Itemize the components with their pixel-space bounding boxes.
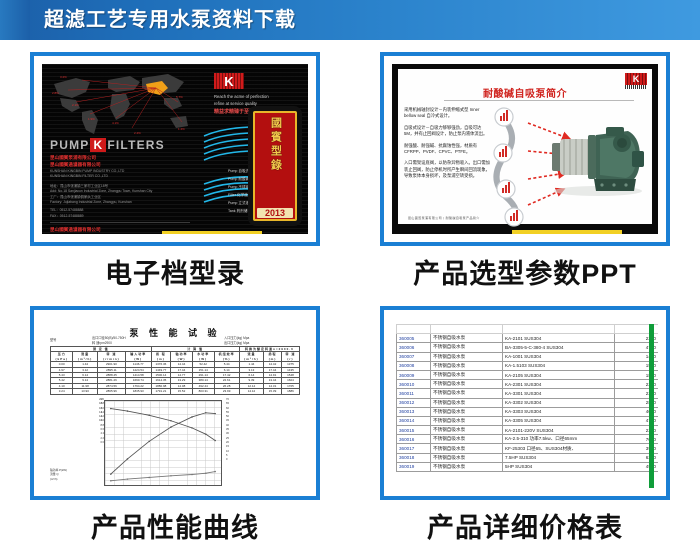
- chart-data-point: [127, 478, 129, 480]
- table-column-header: 扬 程 (m): [151, 352, 171, 362]
- chart-data-point: [170, 475, 172, 477]
- sheet-title: 泵 性 能 试 验: [42, 326, 308, 339]
- table-column-header: 流量 (m³/h): [73, 352, 97, 362]
- catalog-company-en-2: KUNSHAN KINGBIN FILTER CO.,LTD: [50, 174, 200, 179]
- cell-code: 360012: [397, 398, 431, 407]
- cell-model: KA-2101 SUS304: [503, 334, 615, 343]
- cell-name: 不锈钢自吸水泵: [431, 462, 503, 471]
- catalog-k-logo-letter: K: [224, 75, 233, 88]
- table-row[interactable]: 360008不锈钢自吸水泵KA-1.5103 SUS3041540: [397, 361, 659, 370]
- caption-price: 产品详细价格表: [427, 506, 623, 545]
- table-column-header: 压力 (kPa): [51, 352, 73, 362]
- cell-model: KA-3301 SUS304: [503, 389, 615, 398]
- cell-model: KA-2105 SUS304: [503, 370, 615, 379]
- table-cell: 15.52: [171, 389, 193, 394]
- sheet-meta-outlet: 出口压力(kg) Mpa: [224, 341, 249, 346]
- table-row[interactable]: 360019不锈钢自吸水泵5HP SUS3044900: [397, 462, 659, 471]
- chart-data-point: [148, 441, 150, 443]
- table-cell: 1791.21: [151, 389, 171, 394]
- catalog-factory-cn: 工厂：昆山市张浦镇俱家浜工业区: [50, 195, 200, 200]
- table-row[interactable]: 360005不锈钢自吸水泵KA-2101 SUS3042240: [397, 334, 659, 343]
- cell-code: 360017: [397, 444, 431, 453]
- cell-model: 5HP SUS304: [503, 462, 615, 471]
- ppt-bullet-4: 入口需架设底阀，以防杂异物吸入。出口需加装止回阀，防止停机时所产生瞬间回流现象，…: [404, 160, 490, 179]
- table-column-header: 扬程 (m): [264, 352, 282, 362]
- table-row[interactable]: 360011不锈钢自吸水泵KA-3301 SUS3042380: [397, 389, 659, 398]
- cell-code: 360010: [397, 380, 431, 389]
- cell-model: KA-2301 SUS304: [503, 380, 615, 389]
- table-row[interactable]: 360010不锈钢自吸水泵KA-2301 SUS3042240: [397, 380, 659, 389]
- chart-y-axis-right-ticks: 7065605550454035302520151050: [226, 398, 250, 462]
- cell-name: 不锈钢自吸水泵: [431, 389, 503, 398]
- cell-model: KA-2.5-310 功率7.5kw、口径65mm: [503, 435, 615, 444]
- table-row[interactable]: 360017不锈钢自吸水泵KF-25303 口径65、SUS304材质、3990: [397, 444, 659, 453]
- ppt-hotline-strip: [625, 85, 647, 89]
- chart-data-point: [127, 458, 129, 460]
- cell-model: KA-2101-220V SUS304: [503, 426, 615, 435]
- chart-data-point: [205, 433, 207, 435]
- download-panel-grid: 3.2%2.8% 2.1%1.9% 4.1%2.4% 5.7%1.4% PUMP…: [0, 44, 700, 552]
- chart-line-扬程 H (m): [111, 409, 215, 441]
- svg-text:2.4%: 2.4%: [134, 131, 141, 135]
- chart-data-point: [170, 420, 172, 422]
- pump-test-data-table: 测 定 值 计 算 值 转换为额定转速n=2900.0 压力 (kPa)流量 (…: [50, 346, 300, 395]
- cell-code: 360006: [397, 343, 431, 352]
- chart-data-point: [214, 440, 216, 442]
- cell-code: 360018: [397, 453, 431, 462]
- table-row[interactable]: 360009不锈钢自吸水泵KA-2105 SUS3041850: [397, 370, 659, 379]
- cell-code: 360005: [397, 334, 431, 343]
- svg-text:5.7%: 5.7%: [176, 95, 183, 99]
- catalog-company-en-1: KUNSHAN KINGBIN PUMP INDUSTRY CO.,LTD: [50, 169, 200, 174]
- cell-name: 不锈钢自吸水泵: [431, 453, 503, 462]
- table-row[interactable]: 360016不锈钢自吸水泵KA-2.5-310 功率7.5kw、口径65mm70…: [397, 435, 659, 444]
- svg-text:2.8%: 2.8%: [52, 91, 59, 95]
- table-cell: 15.39: [264, 389, 282, 394]
- table-row[interactable]: 360006不锈钢自吸水泵BA-3305-5-C-380-4 SUS304476…: [397, 343, 659, 352]
- ppt-footer-text: 昆山國賓泵浦有限公司 | 耐酸碱自吸泵产品简介: [408, 216, 480, 220]
- catalog-company-cn-1: 昆山國賓泵浦有限公司: [50, 154, 200, 161]
- catalog-tel: TEL：0512-57488888: [50, 208, 200, 213]
- panel-catalog[interactable]: 3.2%2.8% 2.1%1.9% 4.1%2.4% 5.7%1.4% PUMP…: [0, 44, 350, 298]
- chart-data-point: [148, 477, 150, 479]
- sheet-meta-label: 型号: [50, 338, 56, 343]
- cell-code: 360013: [397, 407, 431, 416]
- ppt-bullet-1: 采用机械轴封设计－内装伸缩式型 Inner bellow seal 自冷式设计。: [404, 107, 490, 120]
- cell-name: 不锈钢自吸水泵: [431, 426, 503, 435]
- ppt-slide-image: 耐酸碱自吸泵简介 K 采用机械轴封设计－内装伸缩式型 Inner bellow …: [392, 64, 658, 234]
- brand-word-pump: PUMP: [50, 138, 89, 152]
- ppt-yellow-accent-bar: [512, 230, 622, 234]
- cell-model: KA-1.5103 SUS304: [503, 361, 615, 370]
- table-column-header: 机组效率 (%): [214, 352, 239, 362]
- chart-y-axis-mid-ticks: 20181614121086420: [96, 398, 104, 445]
- cell-name: 不锈钢自吸水泵: [431, 398, 503, 407]
- brand-letter-k: K: [90, 138, 106, 152]
- world-map-graphic: 3.2%2.8% 2.1%1.9% 4.1%2.4% 5.7%1.4%: [46, 68, 196, 140]
- chart-data-point: [110, 408, 112, 410]
- table-row[interactable]: 360014不锈钢自吸水泵KA-3305 SUS3044760: [397, 416, 659, 425]
- cell-code: 360019: [397, 462, 431, 471]
- cell-code: 360009: [397, 370, 431, 379]
- table-row: [397, 325, 659, 334]
- group-header-converted: 转换为额定转速n=2900.0: [239, 347, 299, 352]
- catalog-address-cn: 地址：昆山市张浦镇三家村工业区18号: [50, 184, 200, 189]
- catalog-k-logo: K: [214, 73, 244, 89]
- chart-data-point: [148, 414, 150, 416]
- table-column-header: 转 速 (r/min): [97, 352, 125, 362]
- cell-model: KF-25303 口径65、SUS304材质、: [503, 444, 615, 453]
- cell-name: 不锈钢自吸水泵: [431, 444, 503, 453]
- chart-data-point: [110, 480, 112, 482]
- table-cell: 3.24: [51, 389, 73, 394]
- axis-tick-label: 0: [226, 458, 250, 462]
- sheet-meta-inlet: 入口压力(kg) Mpa: [224, 336, 249, 341]
- table-column-header: 流量 (m³/h): [239, 352, 263, 362]
- plaque-year: 2013: [257, 208, 293, 218]
- catalog-cover-image: 3.2%2.8% 2.1%1.9% 4.1%2.4% 5.7%1.4% PUMP…: [42, 64, 308, 234]
- cell-name: 不锈钢自吸水泵: [431, 416, 503, 425]
- table-column-header: 轴功率 (W): [171, 352, 193, 362]
- cell-model: KA-3302 SUS304: [503, 398, 615, 407]
- spreadsheet-scrollbar[interactable]: [649, 324, 654, 488]
- cell-code: 360008: [397, 361, 431, 370]
- catalog-award-plaque: 國賓型錄 2013: [248, 106, 302, 226]
- table-column-header: 水功率 (W): [192, 352, 214, 362]
- chart-line-轴功率 P (kW): [111, 472, 215, 481]
- cell-name: 不锈钢自吸水泵: [431, 435, 503, 444]
- pump-product-photo: [544, 121, 648, 199]
- panel-curve[interactable]: 泵 性 能 试 验 型号 出口口径50(B)/50-750H 转 速rpm290…: [0, 298, 350, 552]
- sheet-meta-model-1: 出口口径50(B)/50-750H: [92, 336, 126, 341]
- table-body: 0.001.442901.901146.771376.3614.4452.425…: [51, 362, 300, 394]
- axis-tick-label: 0: [96, 441, 104, 445]
- cell-model: KA-1001 SUS304: [503, 352, 615, 361]
- price-thumbnail-frame[interactable]: 360005不锈钢自吸水泵KA-2101 SUS3042240360006不锈钢…: [380, 306, 670, 500]
- chart-data-point: [170, 426, 172, 428]
- chart-line-效率 η (%): [111, 413, 215, 474]
- cell-model: KA-3305 SUS304: [503, 416, 615, 425]
- sheet-meta-model-2: 转 速rpm2900: [92, 341, 112, 346]
- page-title: 超滤工艺专用水泵资料下载: [44, 0, 296, 40]
- chart-series-lines: [105, 401, 221, 485]
- chart-flow-unit: (m³/h): [50, 477, 67, 481]
- table-cell: 1886: [281, 389, 299, 394]
- table-cell: 1835.93: [125, 389, 151, 394]
- svg-text:1.4%: 1.4%: [178, 127, 185, 131]
- chart-data-point: [191, 427, 193, 429]
- catalog-divider-1: [50, 222, 190, 223]
- cell-model: BA-3305-5-C-380-4 SUS304: [503, 343, 615, 352]
- cell-model: KA-3303 SUS304: [503, 407, 615, 416]
- catalog-company-cn-2: 昆山國賓過濾器有限公司: [50, 161, 200, 168]
- price-table: 360005不锈钢自吸水泵KA-2101 SUS3042240360006不锈钢…: [396, 324, 658, 472]
- catalog-slogan-en-2: refine at service quality: [214, 101, 257, 107]
- svg-text:4.1%: 4.1%: [112, 121, 119, 125]
- table-column-header: 转 速 (r): [281, 352, 299, 362]
- chart-data-point: [127, 410, 129, 412]
- curve-thumbnail-frame[interactable]: 泵 性 能 试 验 型号 出口口径50(B)/50-750H 转 速rpm290…: [30, 306, 320, 500]
- chart-data-point: [191, 416, 193, 418]
- table-cell: 13.90: [73, 389, 97, 394]
- chart-data-point: [205, 472, 207, 474]
- pump-test-sheet-image: 泵 性 能 试 验 型号 出口口径50(B)/50-750H 转 速rpm290…: [42, 318, 308, 488]
- table-row[interactable]: 360018不锈钢自吸水泵7.5HP SUS3046300: [397, 453, 659, 462]
- svg-text:3.2%: 3.2%: [60, 75, 67, 79]
- brand-word-filters: FILTERS: [107, 138, 165, 152]
- table-cell: 2865.96: [97, 389, 125, 394]
- chart-corner-labels: 轴功率 P(kW) 流量 Q (m³/h): [50, 468, 67, 481]
- table-row[interactable]: 360015不锈钢自吸水泵KA-2101-220V SUS3042240: [397, 426, 659, 435]
- table-cell: 23.99: [214, 389, 239, 394]
- plaque-title-text: 國賓型錄: [270, 117, 281, 208]
- cell-code: 360015: [397, 426, 431, 435]
- svg-text:2.1%: 2.1%: [72, 103, 79, 107]
- chart-data-point: [214, 413, 216, 415]
- caption-catalog: 电子档型录: [105, 252, 245, 291]
- cell-code: 360016: [397, 435, 431, 444]
- ppt-bullet-list: 采用机械轴封设计－内装伸缩式型 Inner bellow seal 自冷式设计。…: [404, 107, 490, 185]
- catalog-factory-en: Factory: Jujiabang Industrial Zone, Zhan…: [50, 200, 200, 205]
- table-column-header: 输入功率 (W): [125, 352, 151, 362]
- page-header: 超滤工艺专用水泵资料下载: [0, 0, 700, 40]
- caption-curve: 产品性能曲线: [91, 506, 259, 545]
- cell-code: 360014: [397, 416, 431, 425]
- cell-name: 不锈钢自吸水泵: [431, 407, 503, 416]
- page-root: 超滤工艺专用水泵资料下载: [0, 0, 700, 552]
- cell-name: 不锈钢自吸水泵: [431, 334, 503, 343]
- ppt-thumbnail-frame[interactable]: 耐酸碱自吸泵简介 K 采用机械轴封设计－内装伸缩式型 Inner bellow …: [380, 52, 670, 246]
- chart-data-point: [110, 473, 112, 475]
- catalog-brand-wordmark: PUMPKFILTERS: [50, 138, 200, 152]
- catalog-yellow-accent-bar: [162, 231, 262, 234]
- table-column-header-row: 压力 (kPa)流量 (m³/h)转 速 (r/min)输入功率 (W)扬 程 …: [51, 352, 300, 362]
- cell-code: 360007: [397, 352, 431, 361]
- table-row[interactable]: 360012不锈钢自吸水泵KA-3302 SUS3042800: [397, 398, 659, 407]
- ppt-slide-title: 耐酸碱自吸泵简介: [398, 85, 652, 100]
- ppt-bullet-2: 自吸式设计－自吸力够够强劲，自吸可达5M，并有止回阀设计，防止泵内液体流出。: [404, 125, 490, 138]
- ppt-k-logo: K: [625, 73, 647, 85]
- cell-name: 不锈钢自吸水泵: [431, 352, 503, 361]
- catalog-address-en: Add: No.18 Sanjiacun Industrial Zone, Zh…: [50, 189, 200, 194]
- cell-code: 360011: [397, 389, 431, 398]
- cell-name: 不锈钢自吸水泵: [431, 370, 503, 379]
- price-spreadsheet-image: 360005不锈钢自吸水泵KA-2101 SUS3042240360006不锈钢…: [392, 318, 658, 488]
- table-cell: 803.31: [192, 389, 214, 394]
- catalog-fax: FAX：0512-57488889: [50, 214, 200, 219]
- ppt-k-logo-letter: K: [633, 75, 640, 84]
- cell-name: 不锈钢自吸水泵: [431, 343, 503, 352]
- panel-ppt[interactable]: 耐酸碱自吸泵简介 K 采用机械轴封设计－内装伸缩式型 Inner bellow …: [350, 44, 700, 298]
- table-row[interactable]: 360013不锈钢自吸水泵KA-3303 SUS3044060: [397, 407, 659, 416]
- chart-data-point: [205, 412, 207, 414]
- ppt-bullet-3: 耐强酸、耐强碱、抗腐蚀性强，材质有CFRPP、PVDF、CPVC、PTFE。: [404, 143, 490, 156]
- panel-price[interactable]: 360005不锈钢自吸水泵KA-2101 SUS3042240360006不锈钢…: [350, 298, 700, 552]
- chart-data-point: [191, 474, 193, 476]
- header-left-accent-band: [0, 0, 30, 40]
- table-cell: 14.12: [239, 389, 263, 394]
- catalog-slogan-en-1: Reach the acme of perfection: [214, 94, 269, 100]
- cell-model: 7.5HP SUS304: [503, 453, 615, 462]
- caption-ppt: 产品选型参数PPT: [413, 252, 637, 291]
- svg-text:1.9%: 1.9%: [88, 117, 95, 121]
- catalog-thumbnail-frame[interactable]: 3.2%2.8% 2.1%1.9% 4.1%2.4% 5.7%1.4% PUMP…: [30, 52, 320, 246]
- cell-name: 不锈钢自吸水泵: [431, 380, 503, 389]
- table-row: 3.2413.902865.961835.931791.2115.52803.3…: [51, 389, 300, 394]
- table-row[interactable]: 360007不锈钢自吸水泵KA-1001 SUS3041400: [397, 352, 659, 361]
- chart-data-point: [214, 471, 216, 473]
- cell-name: 不锈钢自吸水泵: [431, 361, 503, 370]
- ppt-title-underline: [444, 100, 634, 101]
- performance-curve-chart: [104, 400, 222, 486]
